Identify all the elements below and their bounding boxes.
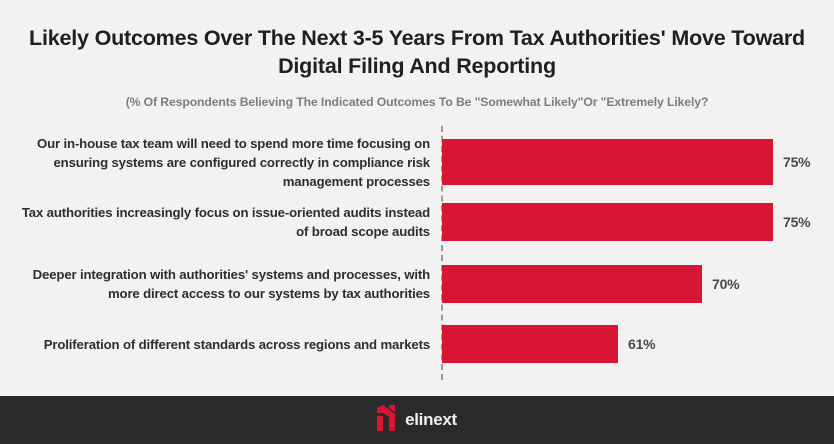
chart-subtitle: (% Of Respondents Believing The Indicate… bbox=[22, 95, 812, 110]
bar-group: 70% bbox=[442, 265, 739, 303]
brand-logo-text: elinext bbox=[405, 410, 457, 430]
bar-rect bbox=[442, 325, 618, 363]
chart-row: Our in-house tax team will need to spend… bbox=[0, 139, 834, 185]
infographic-root: Likely Outcomes Over The Next 3-5 Years … bbox=[0, 0, 834, 444]
bar-group: 75% bbox=[442, 203, 810, 241]
bar-chart-plot-area: Our in-house tax team will need to spend… bbox=[0, 124, 834, 382]
bar-group: 75% bbox=[442, 139, 810, 185]
bar-group: 61% bbox=[442, 325, 655, 363]
bar-value-label: 75% bbox=[783, 214, 810, 230]
bar-rect bbox=[442, 139, 773, 185]
bar-category-label: Our in-house tax team will need to spend… bbox=[20, 134, 430, 191]
bar-category-label: Deeper integration with authorities' sys… bbox=[20, 265, 430, 303]
bar-value-label: 75% bbox=[783, 154, 810, 170]
bar-rect bbox=[442, 265, 702, 303]
bar-category-label: Proliferation of different standards acr… bbox=[20, 335, 430, 354]
chart-header: Likely Outcomes Over The Next 3-5 Years … bbox=[0, 0, 834, 109]
bar-value-label: 70% bbox=[712, 276, 739, 292]
brand-logo: elinext bbox=[377, 405, 457, 436]
bar-value-label: 61% bbox=[628, 336, 655, 352]
footer-bar: elinext bbox=[0, 396, 834, 444]
page-title: Likely Outcomes Over The Next 3-5 Years … bbox=[22, 24, 812, 81]
bar-category-label: Tax authorities increasingly focus on is… bbox=[20, 203, 430, 241]
chart-row: Tax authorities increasingly focus on is… bbox=[0, 203, 834, 241]
bar-rect bbox=[442, 203, 773, 241]
chart-row: Proliferation of different standards acr… bbox=[0, 325, 834, 363]
chart-row: Deeper integration with authorities' sys… bbox=[0, 265, 834, 303]
elinext-n-mark-icon bbox=[377, 405, 396, 436]
